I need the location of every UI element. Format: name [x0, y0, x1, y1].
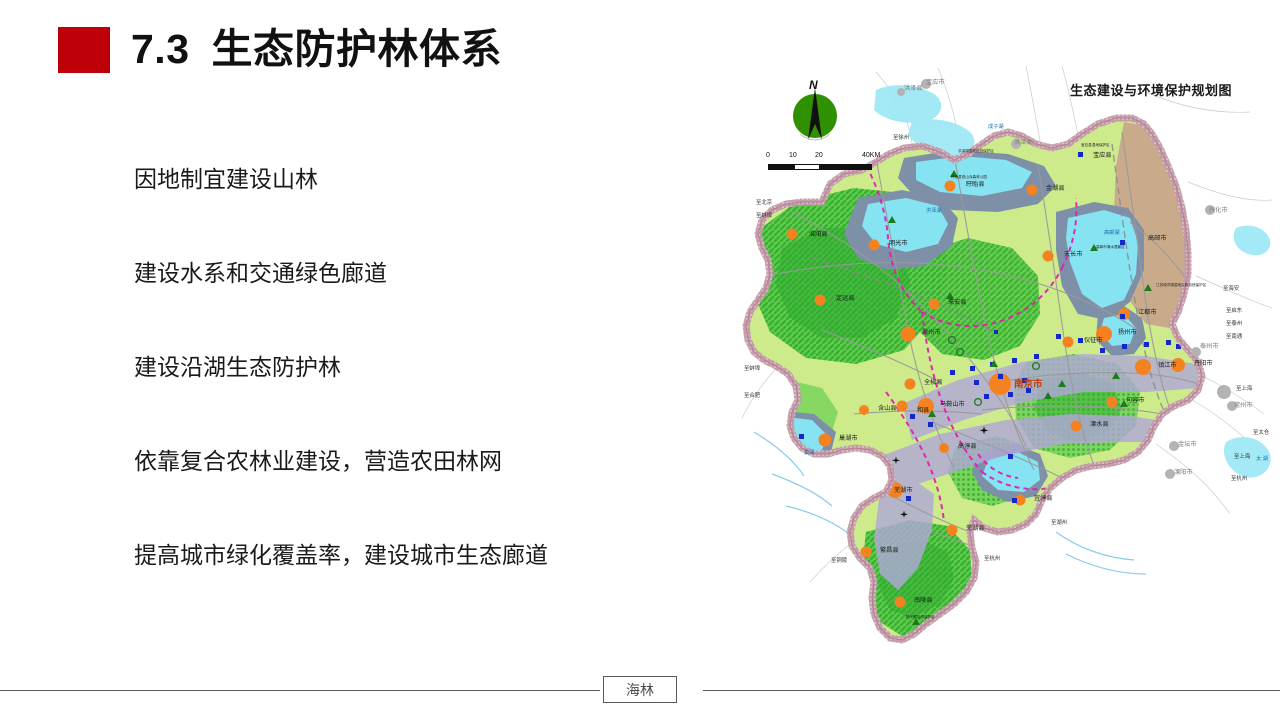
map-label: 全椒县 — [924, 378, 943, 386]
map-label: 江都市 — [1138, 308, 1157, 316]
map-label: 来安县 — [948, 298, 967, 306]
map-label: 至启东 — [1226, 306, 1243, 314]
map-label: 金坛市 — [1178, 440, 1197, 448]
map-label: 常州市 — [1234, 401, 1253, 409]
scalebar-label-20: 20 — [815, 152, 823, 159]
bullet-item-2: 建设水系和交通绿色廊道 — [134, 258, 654, 288]
slide-footer: 海林 — [0, 676, 1280, 720]
page-title-label: 生态防护林体系 — [212, 26, 503, 72]
map-label: 宝应市 — [926, 78, 945, 86]
map-label: 滁州市 — [922, 328, 941, 336]
map-label: 句容市 — [1126, 396, 1145, 404]
map-label: 和县 — [917, 406, 929, 414]
map-label: 至合肥 — [744, 391, 761, 399]
slide-root: 7.3生态防护林体系 因地制宜建设山林 建设水系和交通绿色廊道 建设沿湖生态防护… — [0, 0, 1280, 720]
bullet-item-1: 因地制宜建设山林 — [134, 164, 654, 194]
map-label: 宝应县 — [1093, 151, 1112, 159]
title-marker-square — [58, 27, 110, 73]
map-scalebar: 0 10 20 40KM — [768, 156, 884, 174]
map-label: 丹阳市 — [1194, 359, 1213, 367]
map-label: 定远县 — [836, 294, 855, 302]
compass-north-label: N — [809, 78, 818, 92]
map-label: 盱眙县 — [966, 180, 985, 188]
map-label: 溧水县 — [1090, 420, 1109, 428]
page-title: 7.3生态防护林体系 — [131, 18, 502, 80]
map-label: 金湖县 — [1046, 184, 1065, 192]
map-title: 生态建设与环境保护规划图 — [1070, 80, 1232, 99]
map-label: 扬州市 — [1118, 328, 1137, 336]
footer-rule-left — [0, 690, 600, 691]
map-label: 太 湖 — [1256, 454, 1268, 462]
scalebar-label-10: 10 — [789, 152, 797, 159]
map-label: 至北京 — [756, 198, 773, 206]
map-label: 含山县 — [878, 404, 897, 412]
map-label: 盱眙县铁山寺森林公园 — [951, 174, 987, 179]
map-label: 芜湖县 — [966, 524, 985, 532]
map-label: 淮阳县 — [809, 230, 828, 238]
footer-label: 海林 — [626, 680, 654, 700]
map-label: 南京市 — [1014, 378, 1043, 390]
map-label: 高邮市 — [1148, 234, 1167, 242]
map-label: 繁昌县 — [880, 546, 899, 554]
scalebar-label-0: 0 — [766, 152, 770, 159]
bullet-list: 因地制宜建设山林 建设水系和交通绿色廊道 建设沿湖生态防护林 依靠复合农林业建设… — [134, 164, 654, 570]
bullet-item-5: 提高城市绿化覆盖率，建设城市生态廊道 — [134, 540, 654, 570]
map-label: 宜淳县 — [1034, 494, 1053, 502]
map-label: 洪泽湖湿地自然保护区 — [958, 148, 994, 153]
compass-rose: N — [778, 80, 852, 152]
map-label: 至杭州 — [1231, 474, 1247, 482]
bullet-item-4: 依靠复合农林业建设，营造农田林网 — [134, 446, 654, 476]
bullet-item-3: 建设沿湖生态防护林 — [134, 352, 654, 382]
map-label: 高淳县 — [958, 442, 977, 450]
footer-rule-right — [703, 690, 1280, 691]
map-label: 至太仓 — [1253, 428, 1270, 436]
footer-label-box: 海林 — [603, 676, 677, 703]
map-label: 至蚌埠 — [756, 211, 773, 219]
map-label: 至上海 — [1234, 452, 1251, 460]
map-label: 溧阳市 — [1174, 468, 1193, 476]
map-label: 洪泽湖 — [926, 206, 942, 214]
map-label: 至上海 — [1236, 384, 1253, 392]
map-label: 高邮湖 — [1104, 228, 1120, 236]
map-label: 洪泽县 — [1014, 138, 1033, 146]
map-label: 巢湖市 — [839, 434, 858, 442]
ecological-planning-map: 洪泽县宝应市成子湖洪泽县至徐州洪泽湖湿地自然保护区宝应县宝应县湿地保护区至北京至… — [726, 62, 1274, 672]
map-label: 泰州市 — [1200, 342, 1219, 350]
map-label: 巢湖 — [804, 448, 814, 456]
map-label: 天长市 — [1064, 250, 1083, 258]
map-label: 至南通 — [1226, 332, 1243, 340]
map-label: 至杭州 — [984, 554, 1000, 562]
map-label: 宝应县湿地保护区 — [1081, 142, 1110, 147]
map-label: 南陵县 — [914, 596, 933, 604]
map-figure: 洪泽县宝应市成子湖洪泽县至徐州洪泽湖湿地自然保护区宝应县宝应县湿地保护区至北京至… — [726, 62, 1274, 672]
map-label: 江苏绿洋湖湿地生物自然保护区 — [1156, 282, 1207, 287]
map-label: 至泰州 — [1226, 319, 1242, 327]
page-title-number: 7.3 — [131, 26, 190, 72]
map-label: 至徐州 — [893, 133, 909, 141]
map-label: 至铜陵 — [831, 556, 848, 564]
scalebar-label-40: 40KM — [862, 152, 880, 159]
map-label: 镇江市 — [1158, 361, 1177, 369]
map-label: 至蚌埠 — [744, 364, 761, 372]
map-label: 高邮市清水潭景区 — [1096, 244, 1125, 249]
map-label: 至海安 — [1223, 284, 1240, 292]
map-label: 扬子鳄自然保护区 — [906, 614, 935, 619]
map-label: 明光市 — [889, 239, 908, 247]
map-label: 芜湖市 — [894, 486, 913, 494]
slide-header: 7.3生态防护林体系 — [0, 0, 680, 100]
map-label: 成子湖 — [988, 122, 1004, 130]
map-label: 马鞍山市 — [940, 400, 965, 408]
map-label: 仪征市 — [1084, 336, 1103, 344]
map-label: 至湖州 — [1051, 518, 1067, 526]
map-label: 洪泽县 — [904, 84, 923, 92]
map-label: 兴化市 — [1209, 206, 1228, 214]
